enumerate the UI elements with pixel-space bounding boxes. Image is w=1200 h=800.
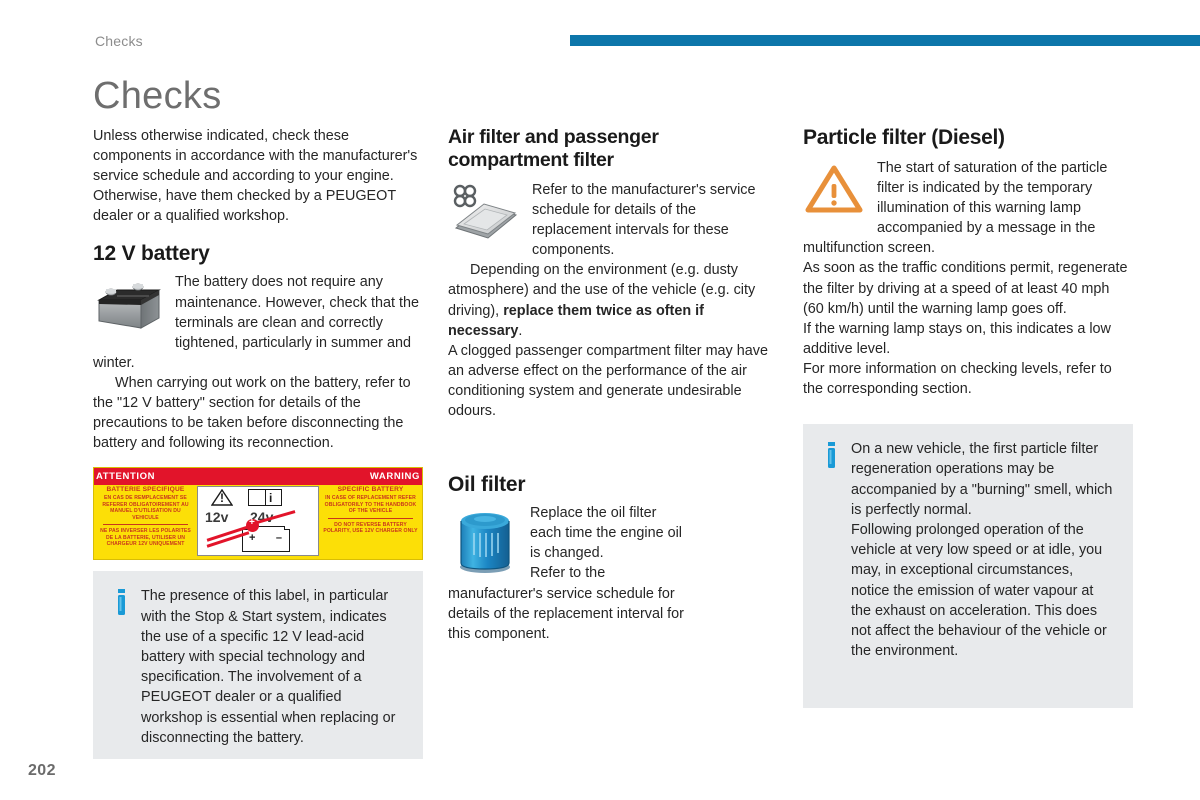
label-body: BATTERIE SPECIFIQUE EN CAS DE REMPLACEME… bbox=[94, 485, 422, 559]
info-box-particle-paragraph-1: On a new vehicle, the first particle fil… bbox=[851, 439, 1115, 520]
label-pictogram-panel: ! i 12v 24v + – bbox=[197, 486, 319, 556]
column-right: Particle filter (Diesel) The start of sa… bbox=[803, 126, 1133, 708]
label-english-divider bbox=[328, 518, 413, 519]
intro-paragraph-2: Otherwise, have them checked by a PEUGEO… bbox=[93, 186, 419, 226]
air-filter-paragraph-2: Depending on the environment (e.g. dusty… bbox=[448, 260, 776, 340]
label-english-body-2: DO NOT REVERSE BATTERY POLARITY, USE 12V… bbox=[322, 522, 419, 535]
page-number: 202 bbox=[28, 762, 56, 780]
oil-filter-icon bbox=[454, 507, 516, 580]
label-french-divider bbox=[103, 524, 188, 525]
section-heading-oil-filter: Oil filter bbox=[448, 473, 778, 497]
label-red-plus: + bbox=[249, 517, 255, 528]
label-voltage-ok: 12v bbox=[205, 509, 228, 525]
manual-page: Checks Checks Unless otherwise indicated… bbox=[0, 0, 1200, 800]
battery-paragraph-2: When carrying out work on the battery, r… bbox=[93, 373, 421, 453]
battery-warning-label-graphic: ATTENTION WARNING BATTERIE SPECIFIQUE EN… bbox=[93, 467, 423, 560]
air-filter-para2-tail: . bbox=[518, 323, 522, 339]
battery-icon bbox=[93, 274, 165, 341]
label-english-body: IN CASE OF REPLACEMENT REFER OBLIGATORIL… bbox=[322, 495, 419, 515]
particle-paragraph-2: As soon as the traffic conditions permit… bbox=[803, 258, 1131, 318]
particle-paragraph-3: If the warning lamp stays on, this indic… bbox=[803, 319, 1131, 359]
info-icon bbox=[827, 442, 835, 473]
label-french-body-2: NE PAS INVERSER LES POLARITES DE LA BATT… bbox=[97, 528, 194, 548]
label-handbook-icon: i bbox=[248, 489, 282, 506]
label-french-body: EN CAS DE REMPLACEMENT SE REFERER OBLIGA… bbox=[97, 495, 194, 521]
particle-paragraph-4: For more information on checking levels,… bbox=[803, 359, 1131, 399]
intro-paragraph-1: Unless otherwise indicated, check these … bbox=[93, 126, 419, 186]
label-triangle-exclamation: ! bbox=[211, 488, 233, 506]
warning-triangle-icon bbox=[805, 164, 863, 219]
air-filter-paragraph-3: A clogged passenger compartment filter m… bbox=[448, 341, 776, 421]
label-english-text: SPECIFIC BATTERY IN CASE OF REPLACEMENT … bbox=[319, 485, 422, 559]
label-handbook-i-glyph: i bbox=[269, 491, 272, 506]
label-french-text: BATTERIE SPECIFIQUE EN CAS DE REMPLACEME… bbox=[94, 485, 197, 559]
section-heading-particle-filter: Particle filter (Diesel) bbox=[803, 126, 1133, 150]
info-box-battery-text: The presence of this label, in particula… bbox=[141, 586, 405, 748]
column-middle: Air filter and passenger compartment fil… bbox=[448, 126, 778, 644]
column-left: Unless otherwise indicated, check these … bbox=[93, 126, 423, 759]
label-attention-title: ATTENTION bbox=[96, 471, 155, 482]
oil-filter-block: Replace the oil filter each time the eng… bbox=[448, 503, 776, 644]
label-warning-title: WARNING bbox=[370, 471, 420, 482]
label-english-heading: SPECIFIC BATTERY bbox=[322, 487, 419, 494]
section-heading-battery: 12 V battery bbox=[93, 242, 423, 266]
particle-filter-block: The start of saturation of the particle … bbox=[803, 158, 1131, 399]
section-heading-air-filter: Air filter and passenger compartment fil… bbox=[448, 126, 778, 172]
page-title: Checks bbox=[93, 75, 222, 118]
info-box-particle-paragraph-2: Following prolonged operation of the veh… bbox=[851, 520, 1115, 661]
info-box-battery-label: The presence of this label, in particula… bbox=[93, 571, 423, 759]
label-french-heading: BATTERIE SPECIFIQUE bbox=[97, 487, 194, 494]
label-battery-plus: + bbox=[249, 532, 255, 544]
label-top-bar: ATTENTION WARNING bbox=[94, 468, 422, 485]
air-filter-icon bbox=[448, 182, 520, 249]
label-battery-minus: – bbox=[276, 532, 282, 544]
running-head: Checks bbox=[95, 33, 143, 49]
intro-block: Unless otherwise indicated, check these … bbox=[93, 126, 419, 226]
info-icon bbox=[117, 589, 125, 620]
header-accent-rule bbox=[570, 35, 1200, 46]
battery-block: The battery does not require any mainten… bbox=[93, 272, 421, 453]
info-box-particle-filter: On a new vehicle, the first particle fil… bbox=[803, 424, 1133, 708]
info-box-particle-text: On a new vehicle, the first particle fil… bbox=[851, 439, 1115, 661]
air-filter-block: Refer to the manufacturer's service sche… bbox=[448, 180, 776, 421]
